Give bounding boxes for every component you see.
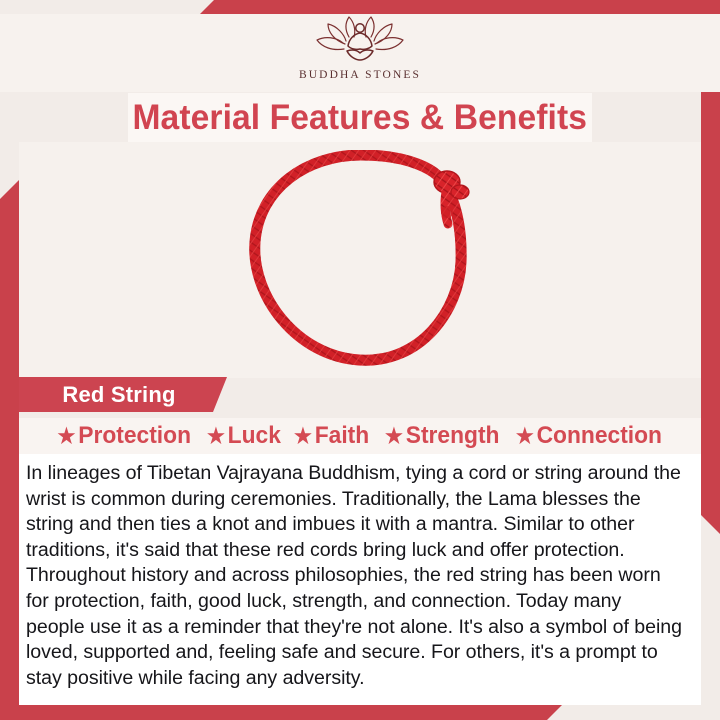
lotus-meditation-figure-icon <box>314 14 406 68</box>
infographic-page: BUDDHA STONES Material Features & Benefi… <box>0 0 720 720</box>
keyword-strength: ★Strength <box>380 422 504 450</box>
page-title: Material Features & Benefits <box>133 98 588 138</box>
keyword-label: Strength <box>405 422 499 450</box>
keyword-faith: ★Faith <box>290 422 375 450</box>
keyword-label: Faith <box>315 422 369 450</box>
keyword-label: Luck <box>227 422 280 450</box>
star-icon: ★ <box>294 426 312 447</box>
description-paragraph: In lineages of Tibetan Vajrayana Buddhis… <box>26 461 683 691</box>
star-icon: ★ <box>516 426 534 447</box>
keyword-label: Protection <box>78 422 191 450</box>
frame-top-accent <box>200 0 720 14</box>
frame-bottom-accent <box>0 705 562 720</box>
star-icon: ★ <box>58 426 76 447</box>
product-name-banner: Red String <box>19 377 227 412</box>
star-icon: ★ <box>207 426 225 447</box>
keyword-label: Connection <box>537 422 662 450</box>
brand-name: BUDDHA STONES <box>299 69 421 81</box>
keyword-luck: ★Luck <box>202 422 285 450</box>
hero-product-area <box>19 142 701 378</box>
description-card: In lineages of Tibetan Vajrayana Buddhis… <box>19 454 701 705</box>
benefit-keyword-row: ★Protection ★Luck ★Faith ★Strength ★Conn… <box>19 418 701 454</box>
page-title-strip: Material Features & Benefits <box>128 93 592 142</box>
product-name-label: Red String <box>62 382 183 408</box>
brand-header: BUDDHA STONES <box>0 14 720 92</box>
keyword-protection: ★Protection <box>53 422 196 450</box>
keyword-connection: ★Connection <box>511 422 667 450</box>
star-icon: ★ <box>385 426 403 447</box>
frame-left-accent <box>0 180 19 720</box>
